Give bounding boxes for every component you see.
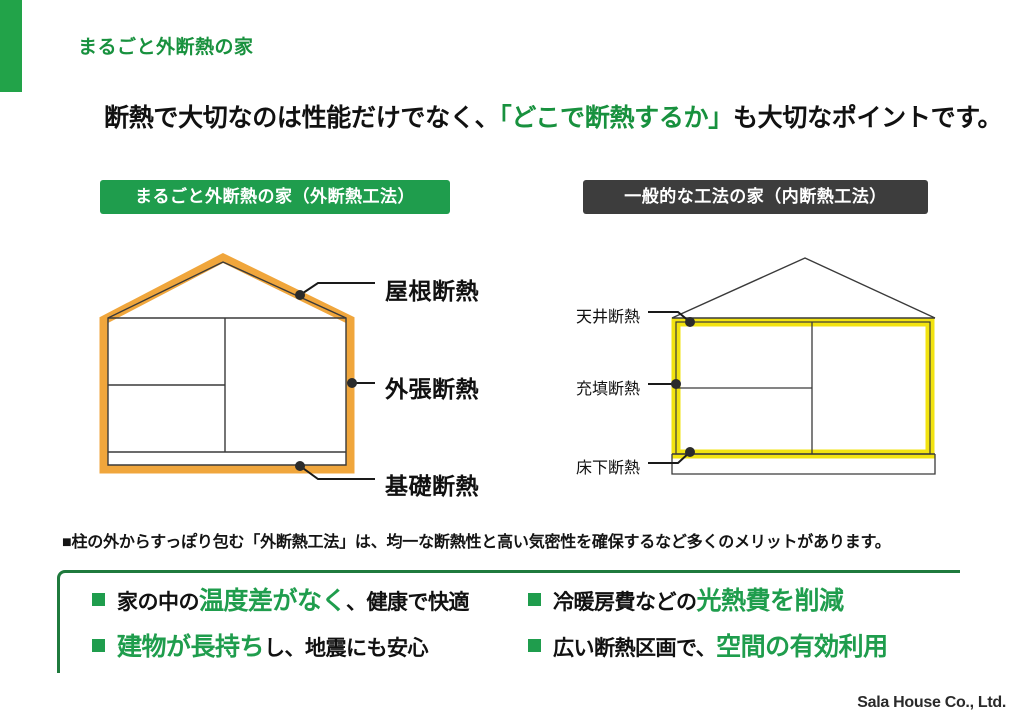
- benefit-pre: 家の中の: [117, 591, 199, 614]
- benefit-text: 冷暖房費などの光熱費を削減: [553, 581, 844, 617]
- benefits-box: 家の中の温度差がなく、健康で快適 建物が長持ちし、地震にも安心 冷暖房費などの光…: [57, 570, 960, 673]
- right-callout-ceiling-leader: [648, 312, 690, 322]
- label-underfloor-insulation: 床下断熱: [480, 454, 640, 478]
- benefit-post: し、地震にも安心: [264, 637, 428, 660]
- bullet-square-icon: [528, 639, 541, 652]
- left-callout-wall-dot: [347, 378, 357, 388]
- right-callout-ceiling-dot: [685, 317, 695, 327]
- benefit-text: 建物が長持ちし、地震にも安心: [117, 627, 428, 663]
- bullet-square-icon: [528, 593, 541, 606]
- left-callout-roof-leader: [300, 283, 375, 295]
- bullet-square-icon: [92, 593, 105, 606]
- right-house-diagram: [648, 258, 935, 474]
- benefit-text: 広い断熱区画で、空間の有効利用: [553, 627, 888, 663]
- benefit-item: 家の中の温度差がなく、健康で快適: [92, 581, 469, 627]
- headline-part1: 断熱で大切なのは性能だけでなく、: [104, 104, 499, 132]
- bullet-square-icon: [92, 639, 105, 652]
- page-title: まるごと外断熱の家: [78, 32, 254, 59]
- benefit-green: 建物が長持ち: [117, 633, 264, 661]
- benefit-pre: 冷暖房費などの: [553, 591, 697, 614]
- headline-part2: も大切なポイントです。: [733, 104, 1002, 132]
- right-callout-underfloor-dot: [685, 447, 695, 457]
- label-ceiling-insulation: 天井断熱: [480, 303, 640, 327]
- left-callout-foundation-dot: [295, 461, 305, 471]
- benefit-item: 冷暖房費などの光熱費を削減: [528, 581, 888, 627]
- label-wall-insulation: 外張断熱: [385, 370, 479, 404]
- left-callout-roof-dot: [295, 290, 305, 300]
- benefit-item: 広い断熱区画で、空間の有効利用: [528, 627, 888, 673]
- right-house-roof: [672, 258, 935, 318]
- right-callout-infill-dot: [671, 379, 681, 389]
- benefit-green: 温度差がなく: [199, 587, 346, 615]
- right-house-living-outline: [676, 322, 930, 454]
- benefit-green: 光熱費を削減: [697, 587, 844, 615]
- right-callout-underfloor-leader: [648, 452, 690, 463]
- left-house-diagram: [104, 258, 375, 479]
- description-text: ■柱の外からすっぽり包む「外断熱工法」は、均一な断熱性と高い気密性を確保するなど…: [62, 528, 891, 552]
- headline: 断熱で大切なのは性能だけでなく、「どこで断熱するか」も大切なポイントです。: [104, 98, 1002, 134]
- benefit-text: 家の中の温度差がなく、健康で快適: [117, 581, 469, 617]
- left-callout-foundation-leader: [300, 466, 375, 479]
- benefits-column-2: 冷暖房費などの光熱費を削減 広い断熱区画で、空間の有効利用: [528, 581, 888, 673]
- panel-header-outer-insulation: まるごと外断熱の家（外断熱工法）: [100, 180, 450, 214]
- right-house-foundation-box: [672, 454, 935, 474]
- label-roof-insulation: 屋根断熱: [385, 272, 479, 306]
- benefit-green: 空間の有効利用: [716, 633, 888, 661]
- left-house-insulation-envelope: [104, 258, 350, 469]
- label-infill-insulation: 充填断熱: [480, 375, 640, 399]
- benefit-item: 建物が長持ちし、地震にも安心: [92, 627, 469, 673]
- brand-accent-bar: [0, 0, 22, 92]
- label-foundation-insulation: 基礎断熱: [385, 467, 479, 501]
- right-house-insulation-band: [676, 322, 930, 454]
- benefit-pre: 広い断熱区画で、: [553, 637, 716, 660]
- panel-header-inner-insulation: 一般的な工法の家（内断熱工法）: [583, 180, 928, 214]
- benefits-column-1: 家の中の温度差がなく、健康で快適 建物が長持ちし、地震にも安心: [92, 581, 469, 673]
- company-footer: Sala House Co., Ltd.: [857, 694, 1006, 712]
- headline-highlight: 「どこで断熱するか」: [499, 104, 733, 132]
- left-house-outline: [108, 262, 346, 465]
- benefit-post: 、健康で快適: [346, 591, 469, 614]
